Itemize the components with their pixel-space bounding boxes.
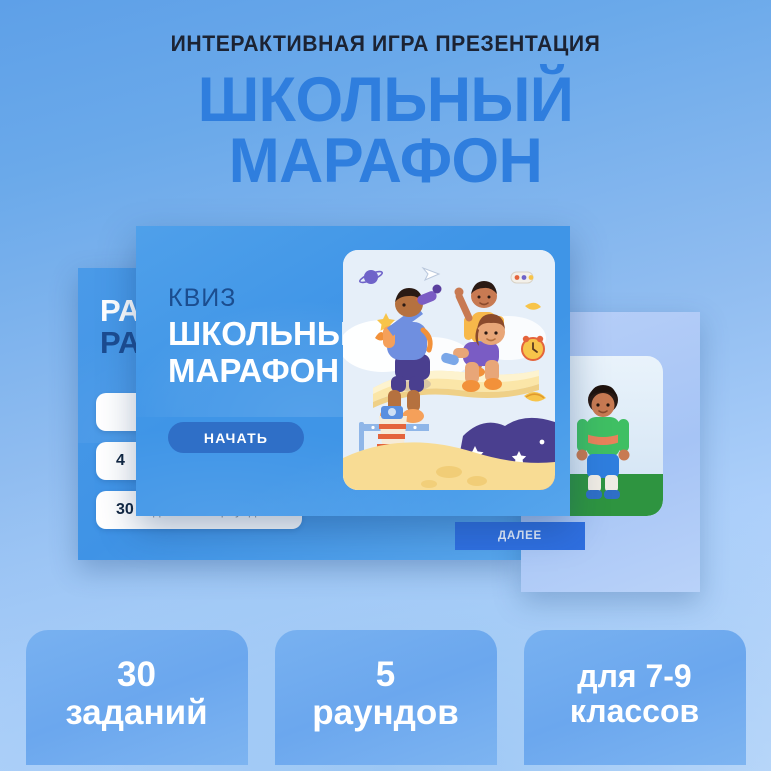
feature-boxes: 30 заданий 5 раундов для 7-9 классов [0,630,771,771]
feature-tasks-number: 30 [117,656,156,694]
next-button-middle[interactable]: ДАЛЕЕ [455,522,585,550]
list-item-number: 30 [116,501,134,519]
card-left-title-line1: РА [100,295,140,327]
card-front-kicker: КВИЗ [168,284,236,313]
slide-card-front[interactable]: КВИЗ ШКОЛЬНЫЙ МАРАФОН НАЧАТЬ [136,226,570,516]
feature-grades-number: для 7-9 [577,659,691,694]
feature-box-rounds: 5 раундов [275,630,497,765]
feature-box-grades: для 7-9 классов [524,630,746,765]
start-button[interactable]: НАЧАТЬ [168,422,304,453]
card-left-title: РА РА [100,295,140,359]
boy-figure-icon [566,382,640,502]
feature-tasks-label: заданий [65,694,207,732]
feature-rounds-label: раундов [312,694,459,732]
illustration-artwork [343,250,555,490]
feature-rounds-number: 5 [376,656,395,694]
feature-box-tasks: 30 заданий [26,630,248,765]
list-item-number: 4 [116,452,125,470]
children-on-book-illustration [343,250,555,490]
feature-grades-label: классов [570,694,699,729]
card-left-title-line2: РА [100,327,140,359]
